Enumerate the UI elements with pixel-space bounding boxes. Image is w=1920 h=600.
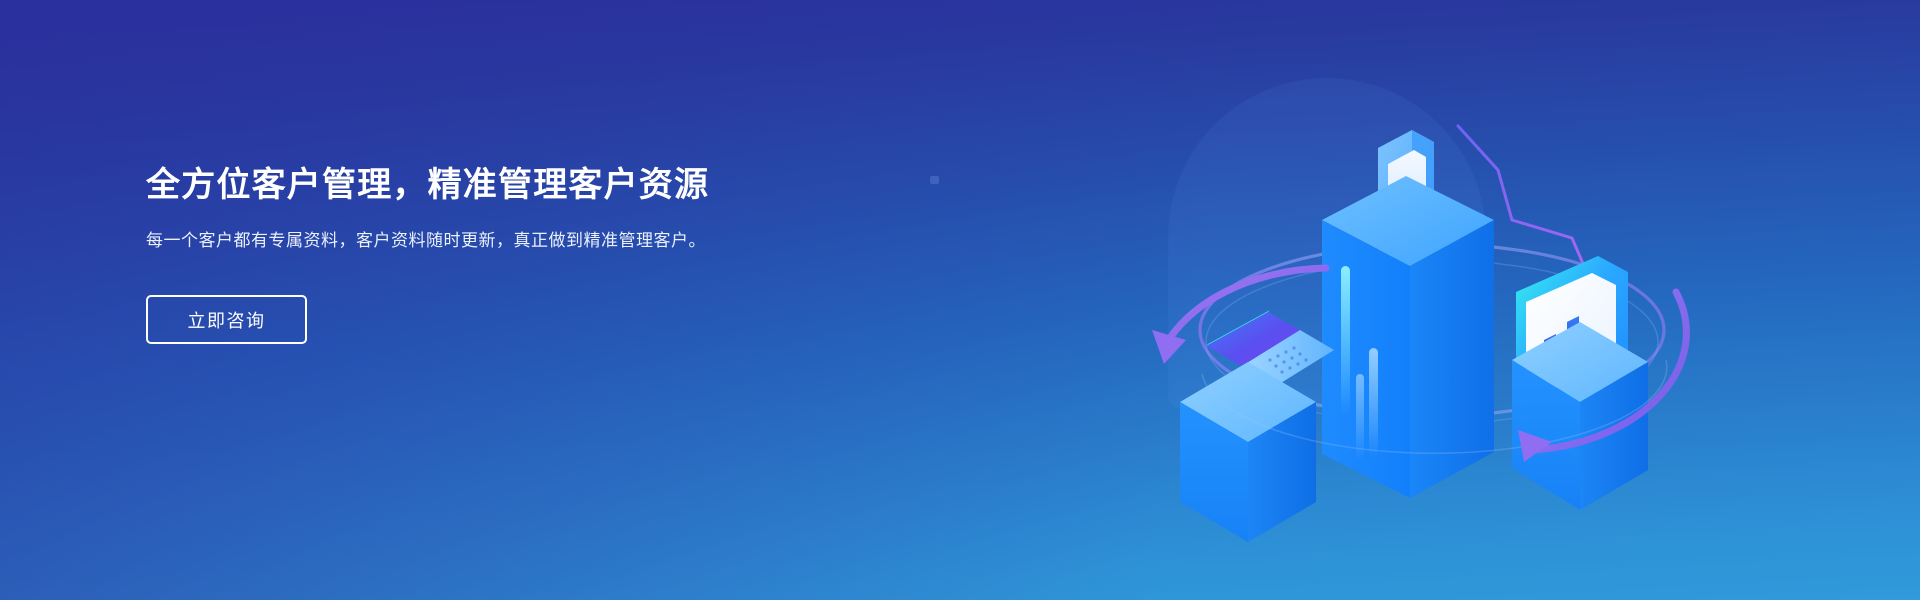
- background-speck: [930, 176, 939, 184]
- hero-copy-block: 全方位客户管理，精准管理客户资源 每一个客户都有专属资料，客户资料随时更新，真正…: [146, 165, 806, 344]
- monitor-pedestal-icon: [1512, 322, 1648, 510]
- laptop-pedestal-icon: [1180, 362, 1316, 542]
- hero-illustration: [1120, 30, 1760, 570]
- tablet-pillar-icon: [1322, 176, 1494, 498]
- consult-now-button[interactable]: 立即咨询: [146, 295, 307, 344]
- hero-subtitle: 每一个客户都有专属资料，客户资料随时更新，真正做到精准管理客户。: [146, 227, 742, 255]
- cta-container: 立即咨询: [146, 295, 806, 344]
- hero-banner: 全方位客户管理，精准管理客户资源 每一个客户都有专属资料，客户资料随时更新，真正…: [0, 0, 1920, 600]
- page-title: 全方位客户管理，精准管理客户资源: [146, 165, 806, 206]
